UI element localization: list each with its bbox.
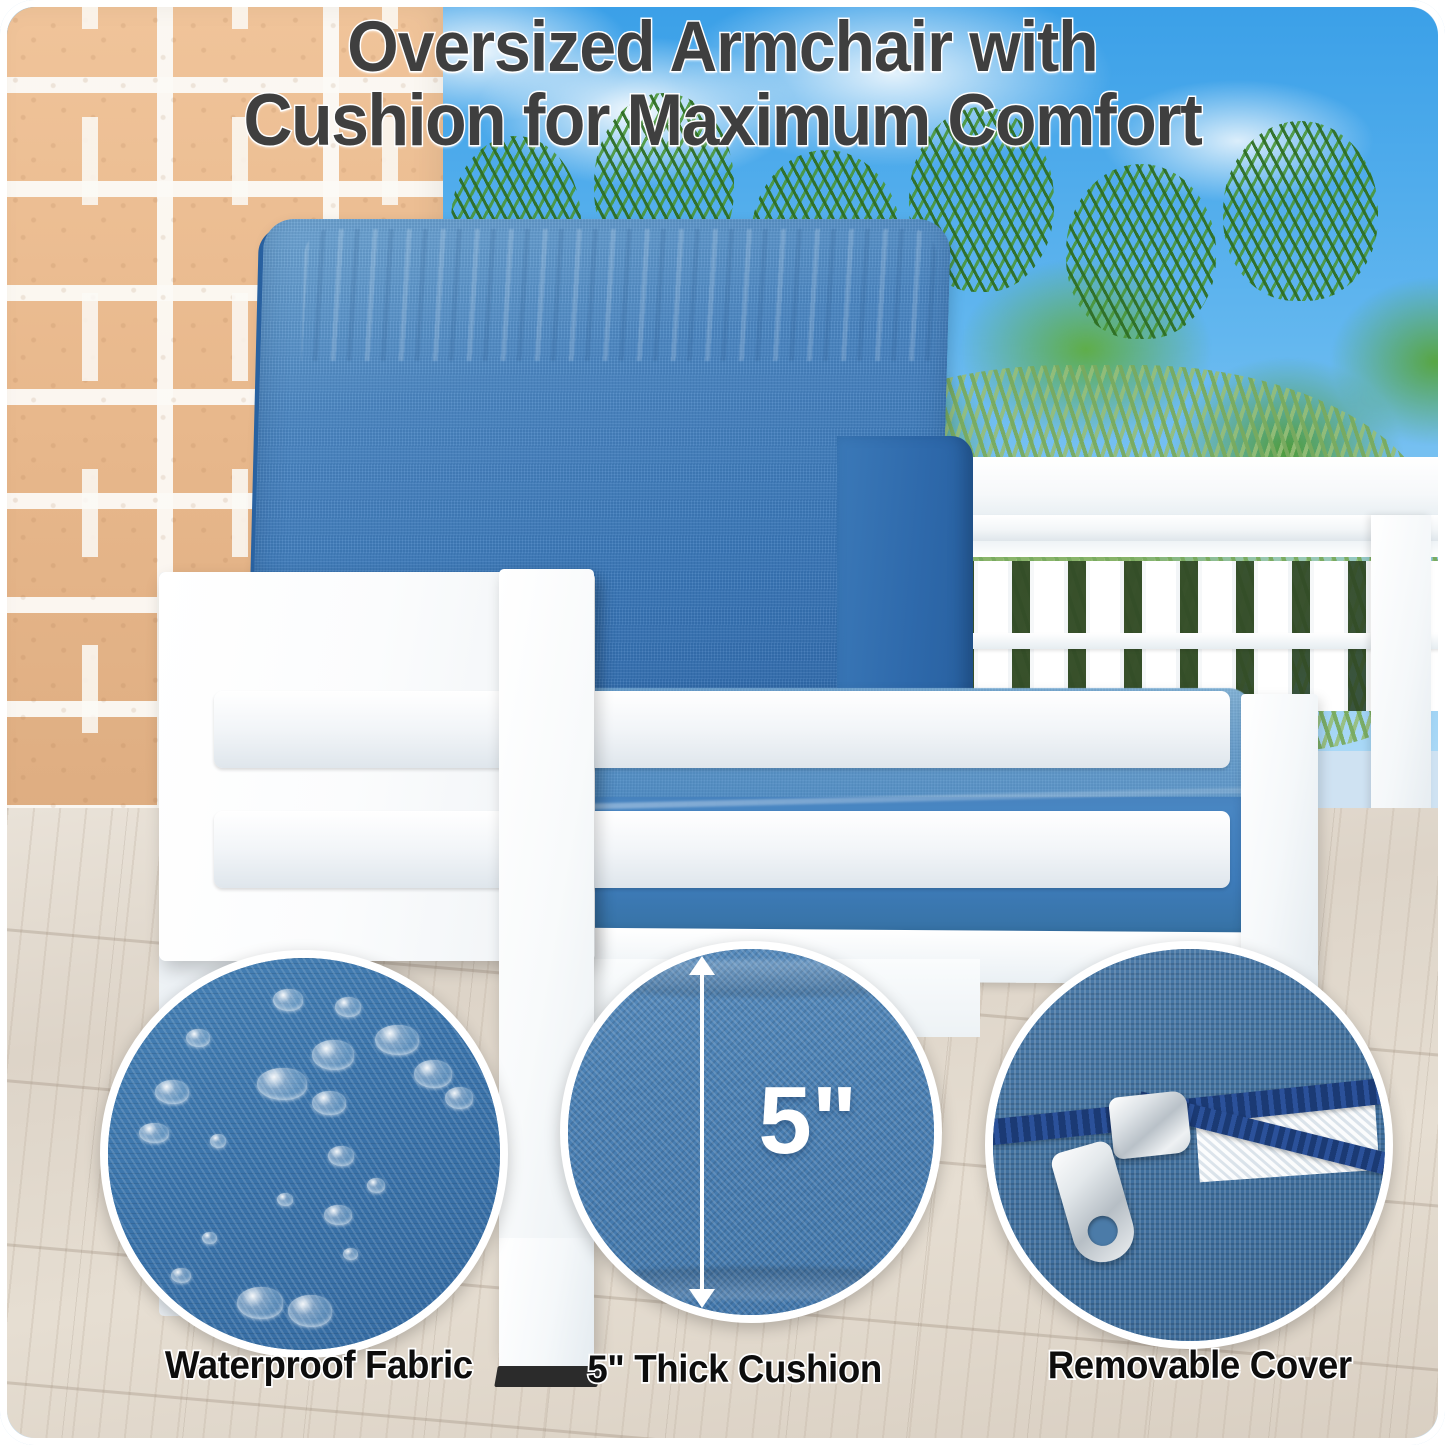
page-title: Oversized Armchair with Cushion for Maxi… (57, 12, 1388, 159)
zipper-slider-icon (1108, 1090, 1192, 1160)
feature-caption-waterproof: Waterproof Fabric (165, 1344, 473, 1388)
cushion-top-seam (560, 960, 942, 997)
water-droplet-icon (257, 1068, 307, 1100)
feature-circle-thickness: 5" (560, 941, 942, 1323)
armrest-slat-lower (214, 811, 1230, 888)
water-droplet-icon (155, 1080, 189, 1104)
armrest-slat-upper (214, 691, 1230, 768)
water-droplet-icon (367, 1178, 385, 1193)
feature-circle-waterproof (100, 950, 508, 1358)
water-droplet-icon (312, 1040, 354, 1070)
cushion-ridges (302, 229, 938, 361)
water-droplet-icon (343, 1248, 358, 1260)
scene: Oversized Armchair with Cushion for Maxi… (7, 7, 1438, 1438)
headline-line-1: Oversized Armchair with (57, 12, 1388, 84)
water-droplet-icon (202, 1232, 217, 1244)
water-droplet-icon (414, 1060, 452, 1088)
water-droplet-icon (273, 989, 303, 1011)
leg-foot-cap (494, 1366, 601, 1387)
water-droplet-icon (375, 1025, 419, 1055)
water-droplet-icon (328, 1146, 354, 1166)
water-droplet-icon (277, 1193, 293, 1206)
water-droplet-icon (312, 1091, 346, 1115)
product-banner: Oversized Armchair with Cushion for Maxi… (0, 0, 1445, 1445)
cushion-bottom-seam (560, 1267, 942, 1300)
water-droplet-icon (335, 997, 361, 1017)
back-cushion-fold (837, 436, 973, 722)
dimension-label: 5" (758, 1073, 857, 1169)
feature-circle-removable-cover (985, 941, 1393, 1349)
dimension-arrow-icon (700, 971, 704, 1293)
water-droplet-icon (171, 1268, 191, 1283)
water-droplet-icon (210, 1134, 226, 1148)
banner-frame: Oversized Armchair with Cushion for Maxi… (0, 0, 1445, 1445)
feature-caption-removable: Removable Cover (1048, 1344, 1352, 1388)
water-droplet-icon (324, 1205, 352, 1225)
headline-line-2: Cushion for Maximum Comfort (57, 84, 1388, 158)
water-droplet-icon (237, 1287, 283, 1319)
feature-caption-thickness: 5" Thick Cushion (587, 1348, 881, 1392)
cushion-fabric-texture (560, 941, 942, 1323)
water-droplet-icon (186, 1029, 210, 1047)
water-droplet-icon (139, 1123, 169, 1143)
water-droplet-icon (445, 1087, 473, 1109)
water-droplet-icon (288, 1295, 332, 1327)
